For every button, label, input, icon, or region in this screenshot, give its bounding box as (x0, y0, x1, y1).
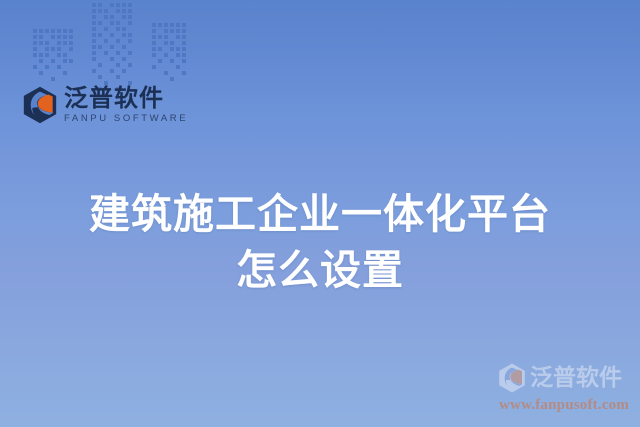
watermark-brand-name: 泛普软件 (530, 367, 622, 390)
watermark: 泛普软件 www.fanpusoft.com (497, 361, 632, 419)
brand-logo: 泛普软件 FANPU SOFTWARE (22, 82, 188, 128)
pixel-skyline-decoration (0, 0, 220, 95)
brand-name-en: FANPU SOFTWARE (64, 113, 188, 124)
page-title: 建筑施工企业一体化平台 怎么设置 (0, 186, 640, 298)
promo-banner: 泛普软件 FANPU SOFTWARE 建筑施工企业一体化平台 怎么设置 泛普软… (0, 0, 640, 427)
page-title-line1: 建筑施工企业一体化平台 (0, 186, 640, 242)
watermark-logo: 泛普软件 (497, 361, 632, 395)
brand-wordmark: 泛普软件 FANPU SOFTWARE (64, 86, 188, 125)
brand-name-cn: 泛普软件 (64, 86, 188, 111)
page-title-line2: 怎么设置 (0, 242, 640, 298)
fanpu-logo-icon (22, 86, 58, 124)
fanpu-logo-icon (497, 363, 527, 393)
watermark-url: www.fanpusoft.com (499, 398, 632, 413)
